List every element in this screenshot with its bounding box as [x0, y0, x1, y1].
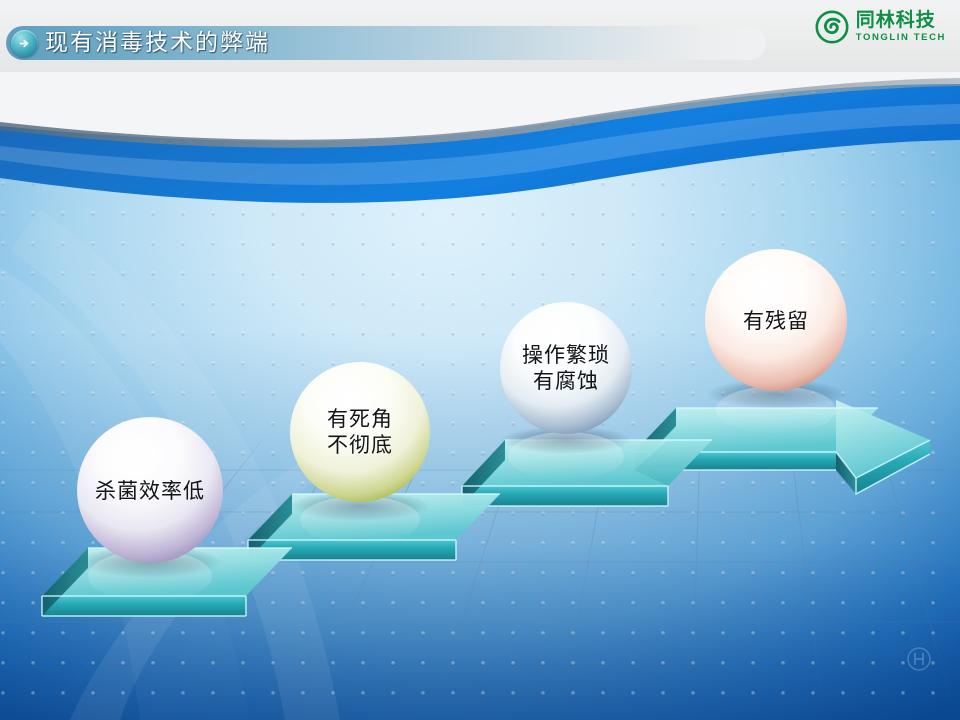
page-title: 现有消毒技术的弊端 — [45, 26, 270, 60]
brand-logo: 同林科技 TONGLIN TECH — [815, 6, 946, 48]
arrow-right-circle-icon[interactable] — [11, 30, 38, 57]
watermark-icon — [906, 646, 932, 672]
brand-name-en: TONGLIN TECH — [856, 33, 946, 43]
slide-canvas: 杀菌效率低 有死角不彻底 操作繁琐有腐蚀 有残留 现有消毒技术的弊端 同林科技 … — [0, 0, 960, 720]
arrow-right-glyph — [17, 36, 32, 51]
sphere-1[interactable] — [77, 417, 223, 563]
sphere-4[interactable] — [705, 249, 847, 391]
sphere-3[interactable] — [500, 302, 632, 434]
steps-diagram — [0, 0, 960, 720]
brand-text: 同林科技 TONGLIN TECH — [856, 11, 946, 43]
spiral-circle-icon — [815, 10, 849, 44]
brand-name-cn: 同林科技 — [856, 11, 936, 30]
sphere-2[interactable] — [290, 362, 430, 502]
